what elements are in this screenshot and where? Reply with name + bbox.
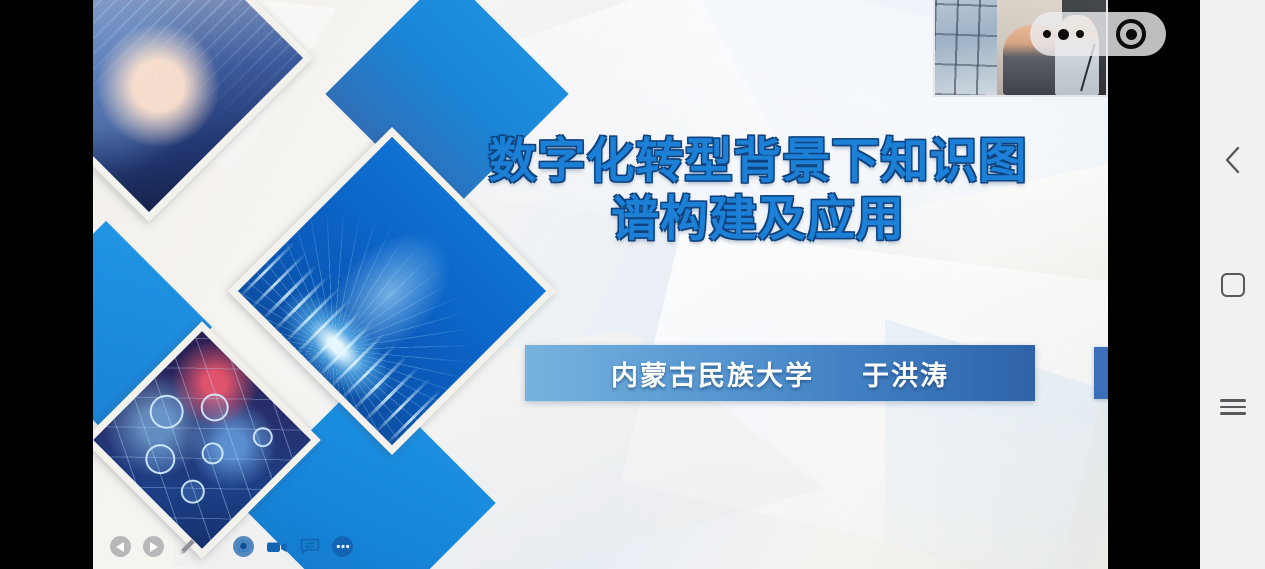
device-screen: 数字化转型背景下知识图 谱构建及应用 内蒙古民族大学 于洪涛 [0, 0, 1265, 569]
window-background [935, 0, 1000, 95]
triangle-left-icon [110, 536, 131, 557]
rounded-square-icon [1221, 273, 1245, 297]
slide-title-line-2: 谱构建及应用 [448, 190, 1068, 248]
video-camera-icon [266, 539, 288, 555]
pencil-icon [177, 537, 197, 557]
laser-pointer-button[interactable] [233, 536, 254, 557]
previous-slide-button[interactable] [110, 536, 131, 557]
floating-recorder-control[interactable] [1030, 12, 1166, 56]
graph-node [249, 423, 277, 451]
pill-record-button[interactable] [1096, 12, 1166, 56]
camera-button[interactable] [266, 536, 287, 557]
chat-button[interactable] [299, 536, 320, 557]
more-options-button[interactable] [332, 536, 353, 557]
next-slide-button[interactable] [143, 536, 164, 557]
graph-node [176, 475, 210, 509]
subtitle-presenter: 于洪涛 [862, 354, 949, 393]
nav-home-button[interactable] [1200, 258, 1265, 312]
nav-recents-button[interactable] [1200, 380, 1265, 434]
graph-node [143, 388, 191, 436]
chevron-left-icon [1223, 145, 1243, 180]
presentation-toolbar [110, 536, 353, 557]
laser-pointer-icon [233, 536, 254, 557]
ellipsis-icon [1043, 29, 1084, 40]
graph-node [197, 438, 228, 469]
graph-node [139, 438, 181, 480]
pill-more-button[interactable] [1030, 12, 1096, 56]
android-navigation-bar [1200, 0, 1265, 569]
triangle-right-icon [143, 536, 164, 557]
record-target-icon [1116, 19, 1146, 49]
pen-annotate-button[interactable] [176, 536, 197, 557]
chat-bubble-icon [300, 538, 320, 555]
graph-node [195, 388, 235, 428]
hand-touching-data-tile [93, 0, 313, 222]
ellipsis-circle-icon [332, 536, 353, 557]
slide-title: 数字化转型背景下知识图 谱构建及应用 [448, 132, 1068, 248]
nav-back-button[interactable] [1200, 135, 1265, 189]
hamburger-icon [1220, 395, 1246, 419]
banner-accent-square [1094, 347, 1108, 399]
subtitle-organization: 内蒙古民族大学 [611, 354, 814, 393]
slide-subtitle-banner: 内蒙古民族大学 于洪涛 [525, 345, 1035, 401]
slide-title-line-1: 数字化转型背景下知识图 [448, 132, 1068, 190]
